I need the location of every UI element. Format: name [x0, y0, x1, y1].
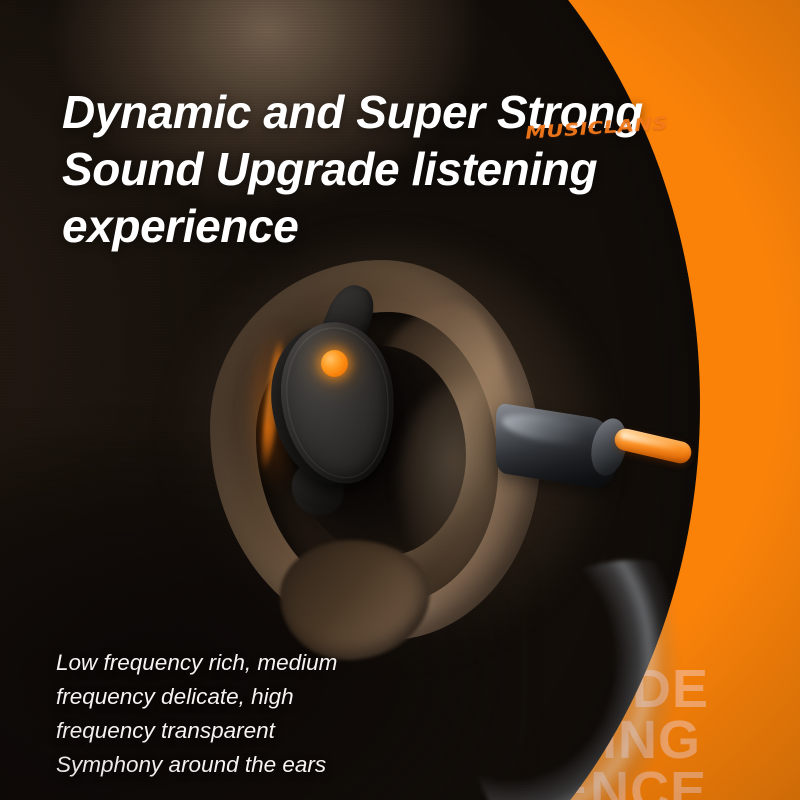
body-copy-line-4: Symphony around the ears	[56, 748, 486, 782]
earbud-pod	[262, 318, 412, 498]
product-marketing-banner: UPGRADE LISTENING XPERIENCE Dynami	[0, 0, 800, 800]
body-copy-line-2: frequency delicate, high	[56, 680, 486, 714]
body-copy: Low frequency rich, medium frequency del…	[56, 646, 486, 782]
headline-line-3: experience	[62, 198, 762, 255]
body-copy-line-3: frequency transparent	[56, 714, 486, 748]
headline: Dynamic and Super Strong Sound Upgrade l…	[62, 84, 762, 255]
boom-arm	[496, 404, 676, 500]
headline-line-2: Sound Upgrade listening	[62, 141, 762, 198]
body-copy-line-1: Low frequency rich, medium	[56, 646, 486, 680]
